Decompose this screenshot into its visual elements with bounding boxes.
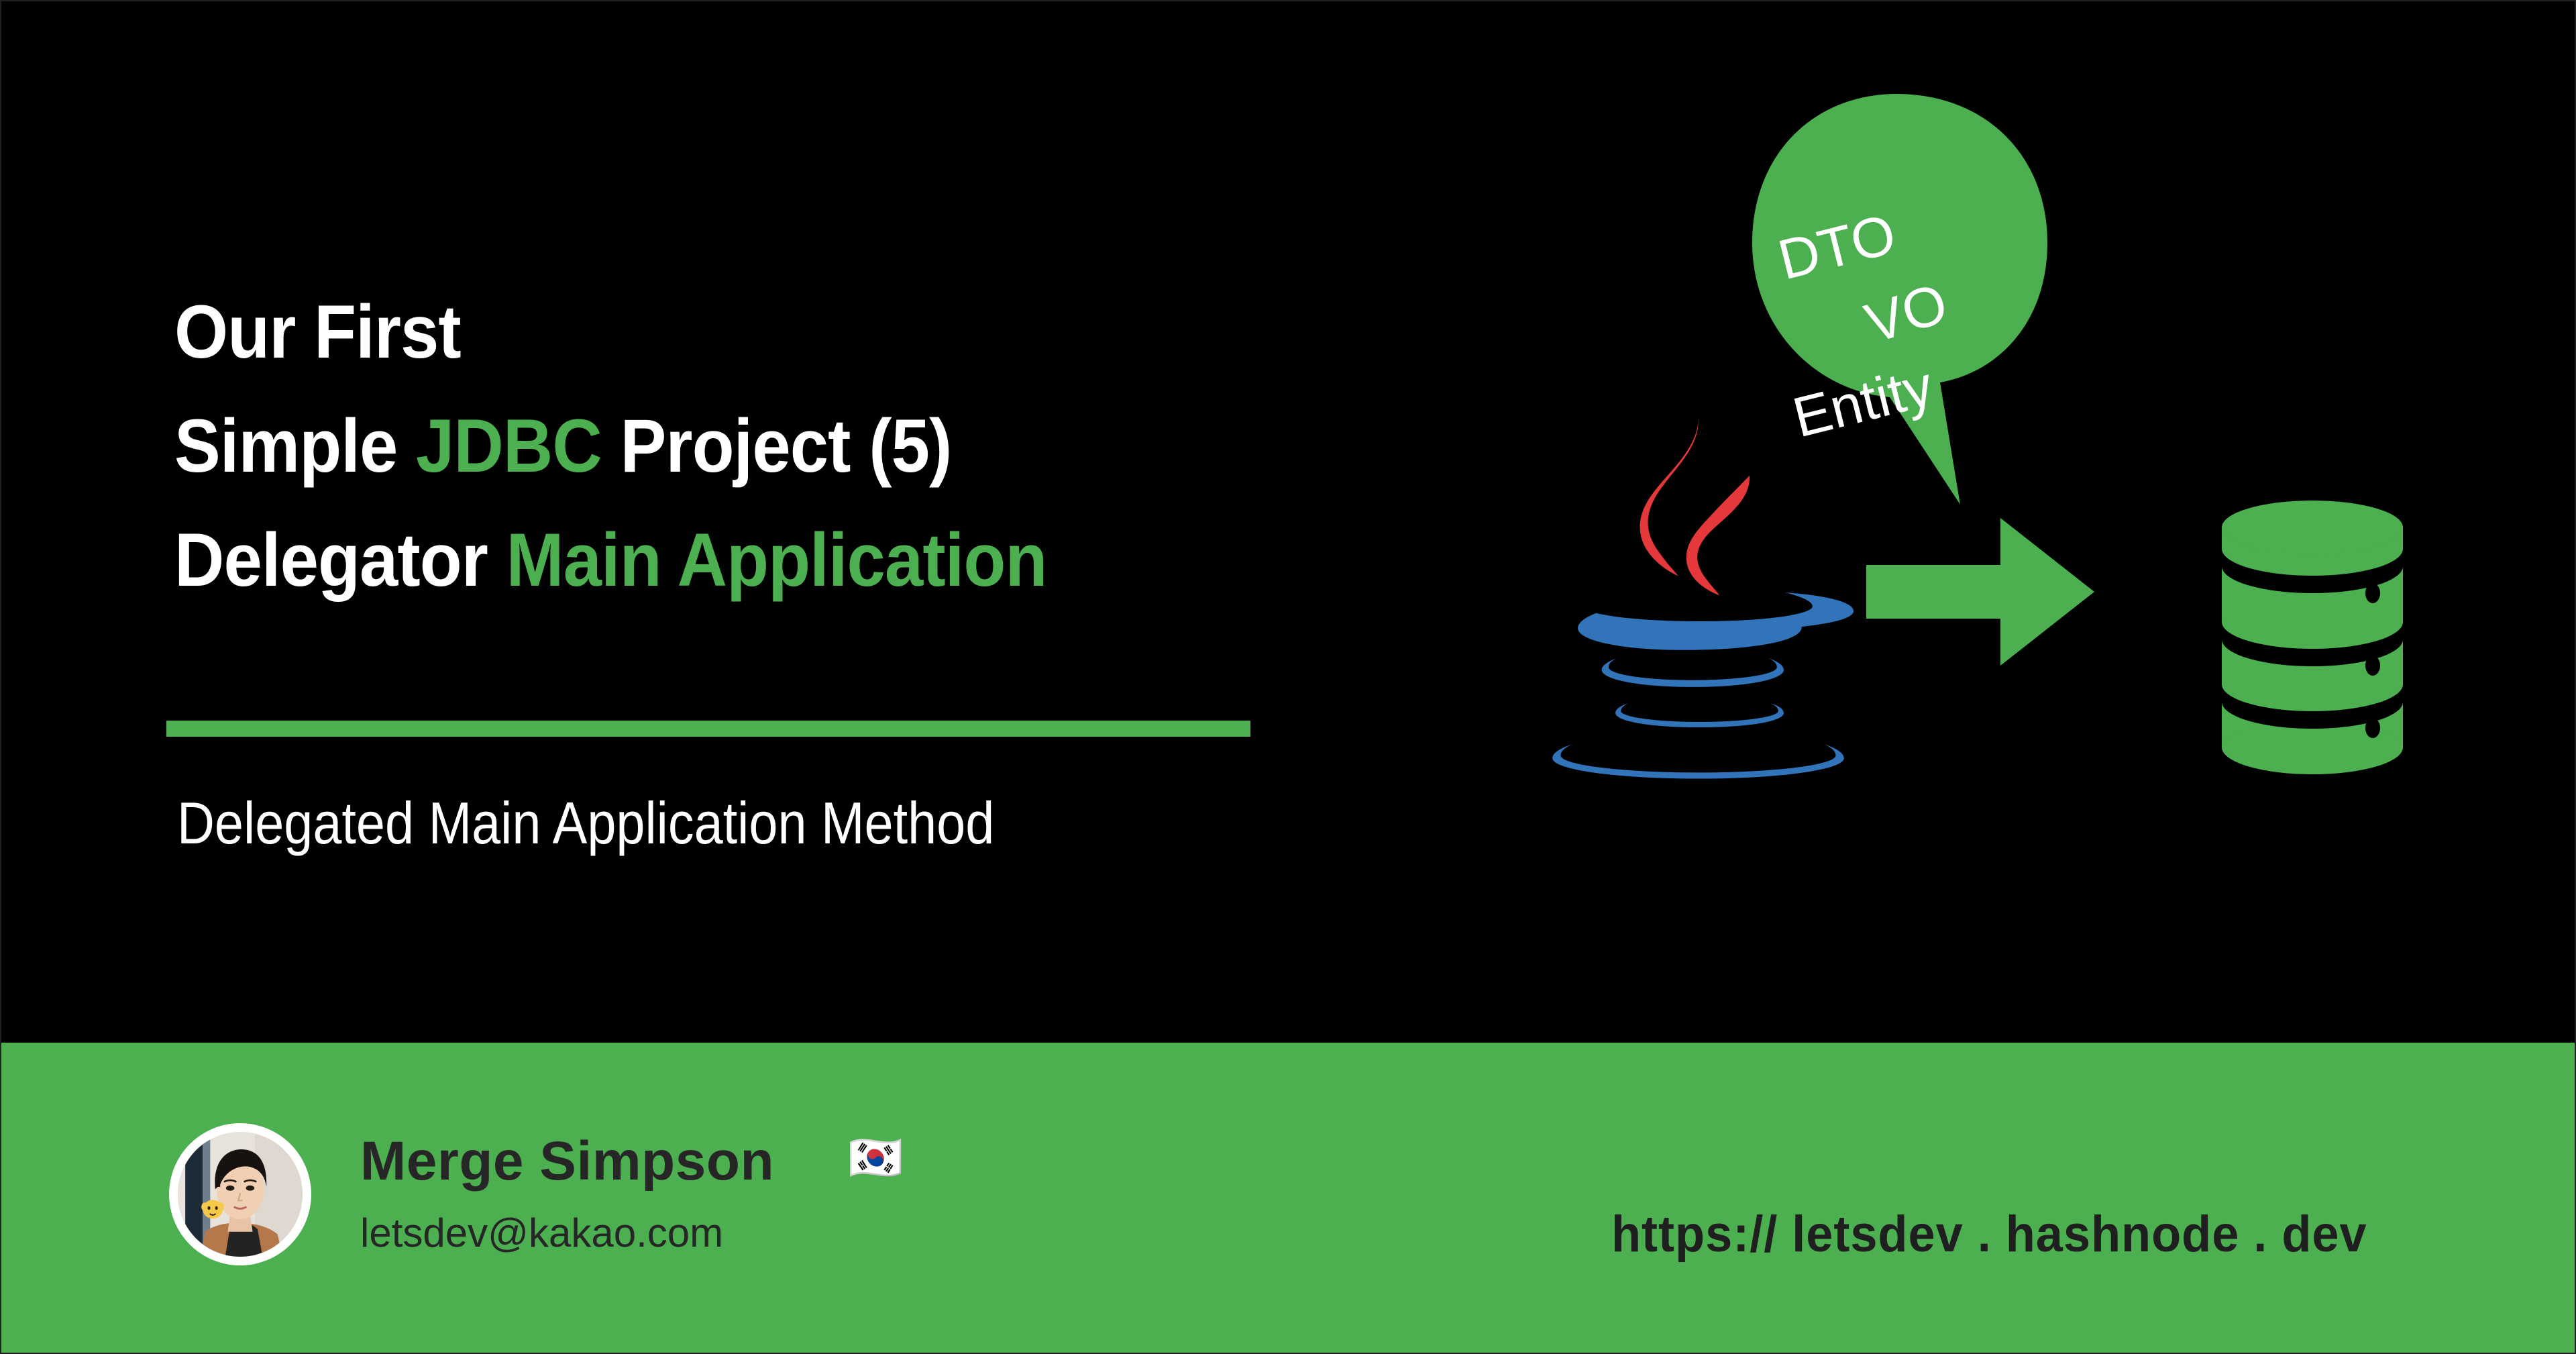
author-email: letsdev@kakao.com [360, 1213, 723, 1253]
avatar [169, 1123, 311, 1265]
title-line-3-prefix: Delegator [174, 518, 506, 602]
subtitle: Delegated Main Application Method [177, 788, 994, 859]
illustration-group: DTO VO Entity [1531, 62, 2470, 840]
java-steam-icon [1640, 417, 1750, 595]
title-line-2: Simple JDBC Project (5) [174, 389, 1409, 503]
java-logo-icon [1552, 417, 1854, 779]
arrow-right-icon [1866, 518, 2094, 666]
banner-card: Our First Simple JDBC Project (5) Delega… [0, 0, 2576, 1354]
avatar-portrait-icon [178, 1132, 303, 1257]
avatar-photo [178, 1132, 303, 1257]
database-icon [2222, 501, 2403, 774]
site-url-link[interactable]: https:// letsdev . hashnode . dev [1611, 1209, 2367, 1260]
author-name: Merge Simpson [360, 1134, 774, 1189]
footer-bar [1, 1043, 2576, 1354]
title-line-2-prefix: Simple [174, 404, 416, 488]
speech-bubble: DTO VO Entity [1752, 94, 2047, 505]
title-line-2-suffix: Project (5) [602, 404, 951, 488]
title-line-3: Delegator Main Application [174, 503, 1409, 617]
title-divider-rule [166, 721, 1250, 737]
title-line-1-text: Our First [174, 290, 461, 374]
title-line-2-accent: JDBC [416, 404, 602, 488]
java-cup-icon [1552, 592, 1854, 778]
title-line-1: Our First [174, 275, 1409, 389]
title-line-3-accent: Main Application [506, 518, 1047, 602]
title-block: Our First Simple JDBC Project (5) Delega… [174, 275, 1516, 618]
korea-flag-icon: 🇰🇷 [848, 1135, 903, 1180]
